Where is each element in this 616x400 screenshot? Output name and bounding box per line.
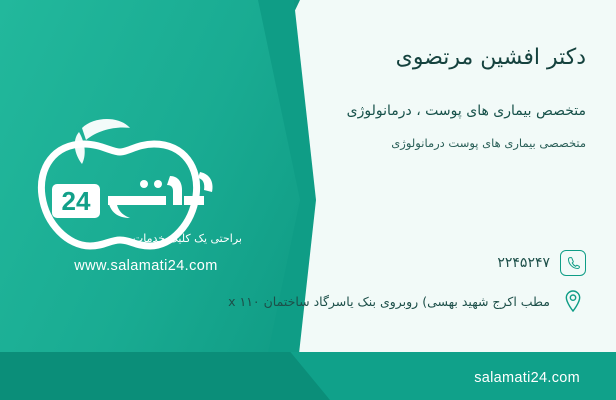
logo-url[interactable]: www.salamati24.com xyxy=(46,258,246,274)
specialty-primary: متخصص بیماری های پوست ، درمانولوژی xyxy=(347,103,586,119)
bottom-bar: salamati24.com xyxy=(0,352,616,400)
business-card: 24 براحتی یک کلیک خدمات www.salamati24.c… xyxy=(0,0,616,400)
address-row[interactable]: مطب اکرج شهید بهسی) روبروی بنک یاسرگاد س… xyxy=(228,288,586,314)
svg-text:24: 24 xyxy=(62,186,91,216)
doctor-name: دکتر افشین مرتضوی xyxy=(396,45,586,70)
phone-row[interactable]: ۲۲۴۵۲۴۷ xyxy=(497,250,586,276)
phone-icon xyxy=(560,250,586,276)
map-pin-icon xyxy=(560,288,586,314)
address-text: مطب اکرج شهید بهسی) روبروی بنک یاسرگاد س… xyxy=(228,294,550,309)
bottom-bar-left-accent xyxy=(0,352,330,400)
phone-number: ۲۲۴۵۲۴۷ xyxy=(497,255,550,271)
bottom-website[interactable]: salamati24.com xyxy=(474,370,580,386)
specialty-secondary: متخصصی بیماری های پوست درمانولوژی xyxy=(391,136,586,150)
logo-tagline: براحتی یک کلیک خدمات xyxy=(133,232,242,245)
brand-logo: 24 براحتی یک کلیک خدمات www.salamati24.c… xyxy=(24,110,254,260)
